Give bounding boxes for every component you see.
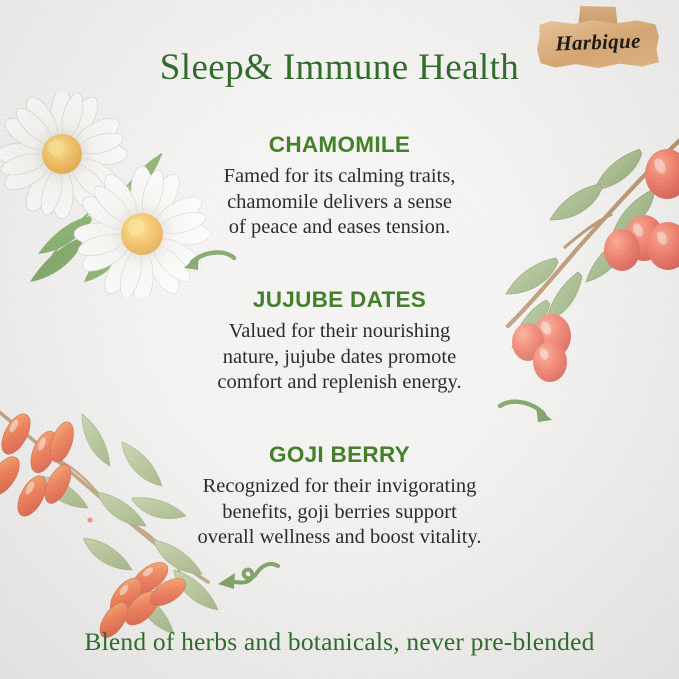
arrow-curl-left-goji-icon — [210, 558, 282, 594]
section-heading: GOJI BERRY — [0, 442, 679, 468]
footer-tagline: Blend of herbs and botanicals, never pre… — [0, 627, 679, 657]
body-line: comfort and replenish energy. — [166, 370, 514, 396]
body-line: benefits, goji berries support — [154, 500, 526, 526]
arrow-right-jujube-icon — [496, 398, 558, 434]
body-line: Recognized for their invigorating — [154, 474, 526, 500]
section-body: Recognized for their invigorating benefi… — [154, 474, 526, 551]
section-heading: CHAMOMILE — [0, 132, 679, 158]
arrow-left-chamomile-icon — [178, 248, 238, 282]
body-line: nature, jujube dates promote — [166, 345, 514, 371]
body-line: chamomile delivers a sense — [175, 190, 505, 216]
section-jujube-dates: JUJUBE DATES Valued for their nourishing… — [0, 287, 679, 396]
page-title: Sleep& Immune Health — [0, 46, 679, 89]
body-line: overall wellness and boost vitality. — [154, 525, 526, 551]
section-heading: JUJUBE DATES — [0, 287, 679, 313]
body-line: Famed for its calming traits, — [175, 164, 505, 190]
body-line: of peace and eases tension. — [175, 215, 505, 241]
section-body: Famed for its calming traits, chamomile … — [175, 164, 505, 241]
section-chamomile: CHAMOMILE Famed for its calming traits, … — [0, 132, 679, 241]
body-line: Valued for their nourishing — [166, 319, 514, 345]
product-infographic: Harbique Sleep& Immune Health CHAMOMILE … — [0, 0, 679, 679]
section-goji-berry: GOJI BERRY Recognized for their invigora… — [0, 442, 679, 551]
section-body: Valued for their nourishing nature, juju… — [166, 319, 514, 396]
